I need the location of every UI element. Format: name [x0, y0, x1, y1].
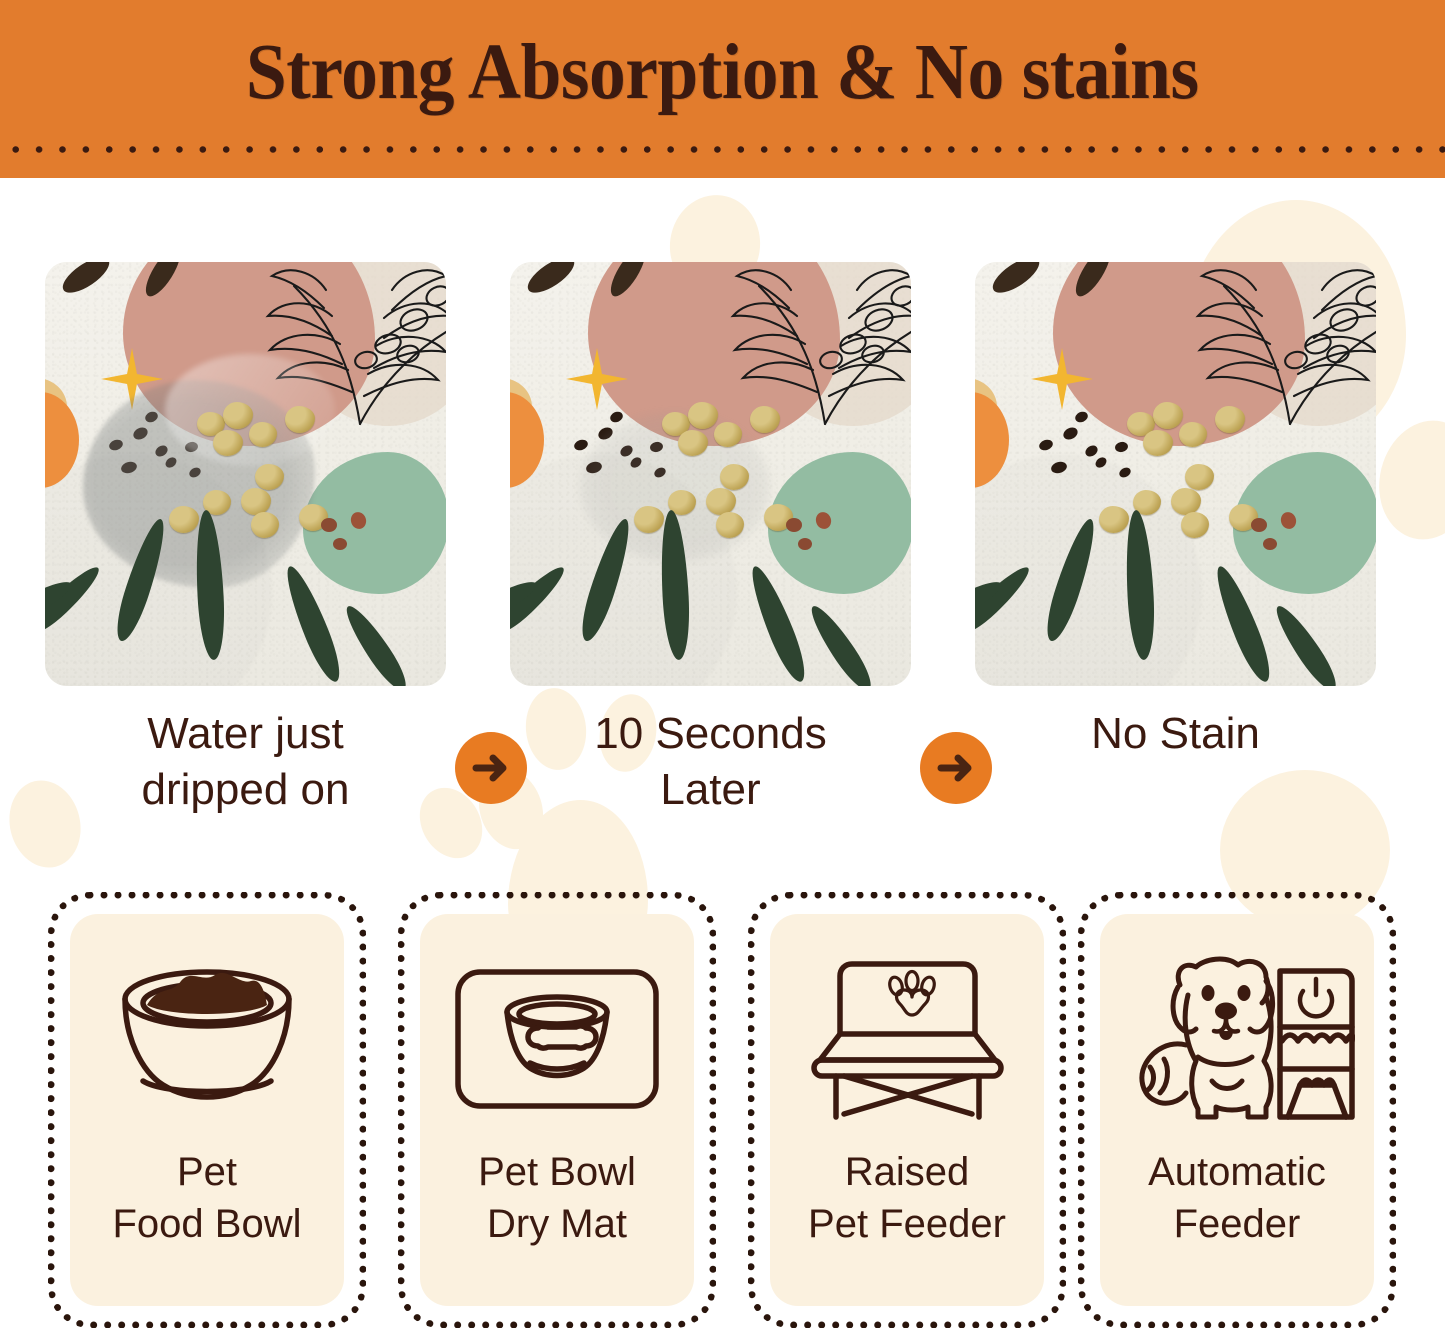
kibble-pellet — [1251, 518, 1267, 532]
label-line: Dry Mat — [478, 1198, 636, 1250]
feature-card-label: Pet Food Bowl — [113, 1146, 302, 1250]
automatic-feeder-icon — [1120, 936, 1355, 1142]
feature-card-pet-food-bowl[interactable]: Pet Food Bowl — [48, 892, 366, 1328]
label-line: Feeder — [1148, 1198, 1326, 1250]
caption-line: Water just — [45, 706, 446, 762]
header-banner: Strong Absorption & No stains — [0, 0, 1445, 178]
feature-card-pet-bowl-dry-mat[interactable]: Pet Bowl Dry Mat — [398, 892, 716, 1328]
feature-card-raised-pet-feeder[interactable]: Raised Pet Feeder — [748, 892, 1066, 1328]
label-line: Food Bowl — [113, 1198, 302, 1250]
feature-card-automatic-feeder[interactable]: Automatic Feeder — [1078, 892, 1396, 1328]
comparison-caption-step-3: No Stain — [975, 706, 1376, 762]
feature-card-label: Automatic Feeder — [1148, 1146, 1326, 1250]
header-dotted-divider — [0, 143, 1445, 156]
kibble-pellet — [321, 518, 337, 532]
label-line: Raised — [808, 1146, 1006, 1198]
comparison-caption-step-1: Water just dripped on — [45, 706, 446, 818]
kibble-pellet — [786, 518, 802, 532]
label-line: Pet — [113, 1146, 302, 1198]
pet-mat-image — [45, 262, 446, 686]
raised-pet-feeder-icon — [800, 936, 1015, 1142]
pet-food-bowl-icon — [107, 936, 307, 1142]
pet-mat-image — [975, 262, 1376, 686]
pet-mat-image — [510, 262, 911, 686]
caption-line: 10 Seconds — [510, 706, 911, 762]
pet-bowl-dry-mat-icon — [452, 936, 662, 1142]
kibble-pellet — [798, 538, 812, 550]
kibble-pellet — [1263, 538, 1277, 550]
caption-line: dripped on — [45, 762, 446, 818]
monstera-leaf-line-art — [697, 262, 911, 446]
label-line: Pet Feeder — [808, 1198, 1006, 1250]
caption-line: No Stain — [975, 706, 1376, 762]
comparison-photo-step-1 — [45, 262, 446, 686]
absorption-comparison — [0, 262, 1445, 692]
label-line: Pet Bowl — [478, 1146, 636, 1198]
label-line: Automatic — [1148, 1146, 1326, 1198]
power-button-icon — [1300, 979, 1332, 1016]
dog-illustration — [1141, 959, 1272, 1117]
caption-line: Later — [510, 762, 911, 818]
comparison-caption-step-2: 10 Seconds Later — [510, 706, 911, 818]
page-title: Strong Absorption & No stains — [246, 28, 1199, 118]
feature-card-label: Pet Bowl Dry Mat — [478, 1146, 636, 1250]
kibble-pellet — [333, 538, 347, 550]
comparison-photo-step-3 — [975, 262, 1376, 686]
monstera-leaf-line-art — [1162, 262, 1376, 446]
compatible-products-row: Pet Food Bowl — [0, 892, 1445, 1332]
comparison-photo-step-2 — [510, 262, 911, 686]
feature-card-label: Raised Pet Feeder — [808, 1146, 1006, 1250]
